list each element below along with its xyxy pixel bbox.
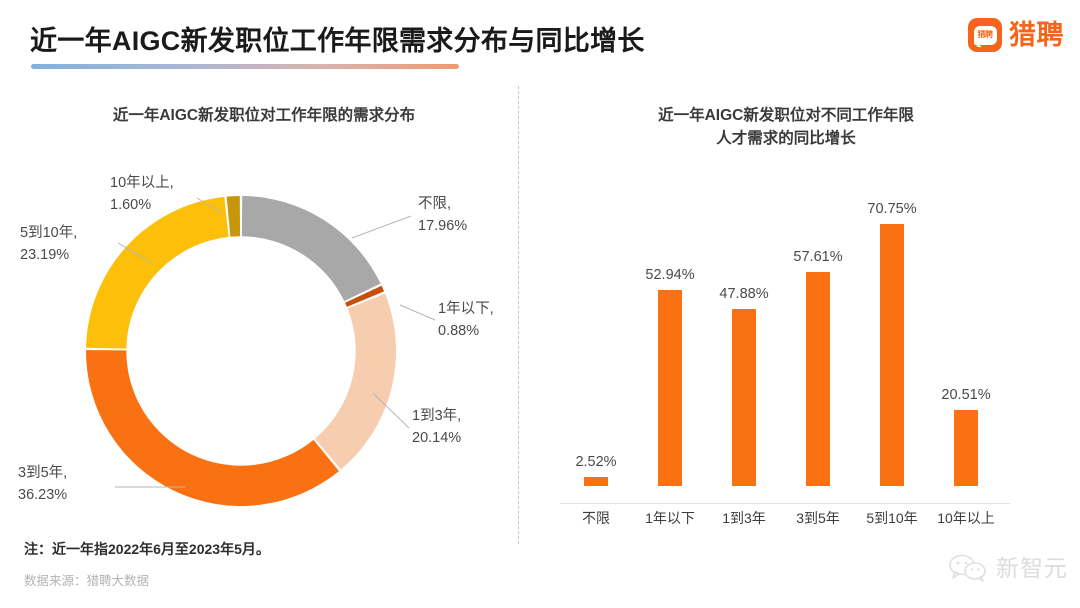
donut-panel-title: 近一年AIGC新发职位对工作年限的需求分布 — [40, 104, 488, 127]
bar-axis-label: 3到5年 — [780, 508, 856, 528]
bar-rect[interactable] — [880, 224, 904, 486]
bar-chart: 2.52%52.94%47.88%57.61%70.75%20.51% — [552, 186, 1022, 486]
title-underline-accent — [31, 64, 459, 69]
footnote-source: 数据来源：猎聘大数据 — [24, 570, 149, 589]
bar-axis-label: 5到10年 — [854, 508, 930, 528]
brand-name: 猎聘 — [1009, 22, 1064, 49]
bar-panel-title: 近一年AIGC新发职位对不同工作年限 人才需求的同比增长 — [556, 104, 1016, 151]
donut-slice — [86, 197, 229, 349]
speech-bubble-icon: 猎聘 — [968, 18, 1002, 52]
bar-value-label: 70.75% — [867, 201, 916, 217]
bar-rect[interactable] — [954, 410, 978, 486]
bubble-tail — [977, 42, 983, 48]
bar-column[interactable]: 2.52% — [562, 186, 630, 486]
donut-slice — [242, 196, 381, 301]
donut-label-unlimited: 不限, 17.96% — [418, 193, 538, 238]
donut-label-3-to-5-years: 3到5年, 36.23% — [18, 462, 128, 507]
bar-axis-label: 不限 — [558, 508, 634, 528]
leader-under1 — [400, 305, 435, 320]
page-title: 近一年AIGC新发职位工作年限需求分布与同比增长 — [30, 19, 645, 58]
bar-rect[interactable] — [806, 272, 830, 486]
bar-axis-label: 1到3年 — [706, 508, 782, 528]
bar-axis-label: 1年以下 — [632, 508, 708, 528]
donut-label-5-to-10-years: 5到10年, 23.19% — [20, 222, 130, 267]
bar-value-label: 2.52% — [575, 454, 616, 470]
footnote-note: 注：近一年指2022年6月至2023年5月。 — [24, 539, 270, 559]
bar-value-label: 20.51% — [941, 387, 990, 403]
bar-rect[interactable] — [584, 477, 608, 486]
bar-rect[interactable] — [732, 309, 756, 486]
donut-label-over-10-years: 10年以上, 1.60% — [110, 172, 230, 217]
bar-column[interactable]: 47.88% — [710, 186, 778, 486]
bar-axis-label: 10年以上 — [928, 508, 1004, 528]
bar-value-label: 47.88% — [719, 286, 768, 302]
watermark-text: 新智元 — [996, 557, 1068, 580]
bar-column[interactable]: 20.51% — [932, 186, 1000, 486]
bar-rect[interactable] — [658, 290, 682, 486]
donut-slices — [86, 196, 396, 506]
bar-value-label: 52.94% — [645, 267, 694, 283]
bar-column[interactable]: 52.94% — [636, 186, 704, 486]
donut-chart — [86, 196, 396, 506]
wechat-icon — [948, 554, 988, 582]
brand-logo: 猎聘 猎聘 — [968, 18, 1064, 52]
watermark: 新智元 — [948, 554, 1068, 582]
donut-chart-svg — [86, 196, 396, 506]
bar-column[interactable]: 70.75% — [858, 186, 926, 486]
donut-slice — [315, 294, 396, 470]
donut-label-under-1-year: 1年以下, 0.88% — [438, 298, 548, 343]
slide-canvas: 近一年AIGC新发职位工作年限需求分布与同比增长 猎聘 猎聘 近一年AIGC新发… — [0, 0, 1080, 608]
bar-column[interactable]: 57.61% — [784, 186, 852, 486]
donut-label-1-to-3-years: 1到3年, 20.14% — [412, 405, 532, 450]
bar-chart-baseline — [560, 503, 1010, 504]
header: 近一年AIGC新发职位工作年限需求分布与同比增长 猎聘 猎聘 — [0, 0, 1080, 82]
bar-value-label: 57.61% — [793, 249, 842, 265]
